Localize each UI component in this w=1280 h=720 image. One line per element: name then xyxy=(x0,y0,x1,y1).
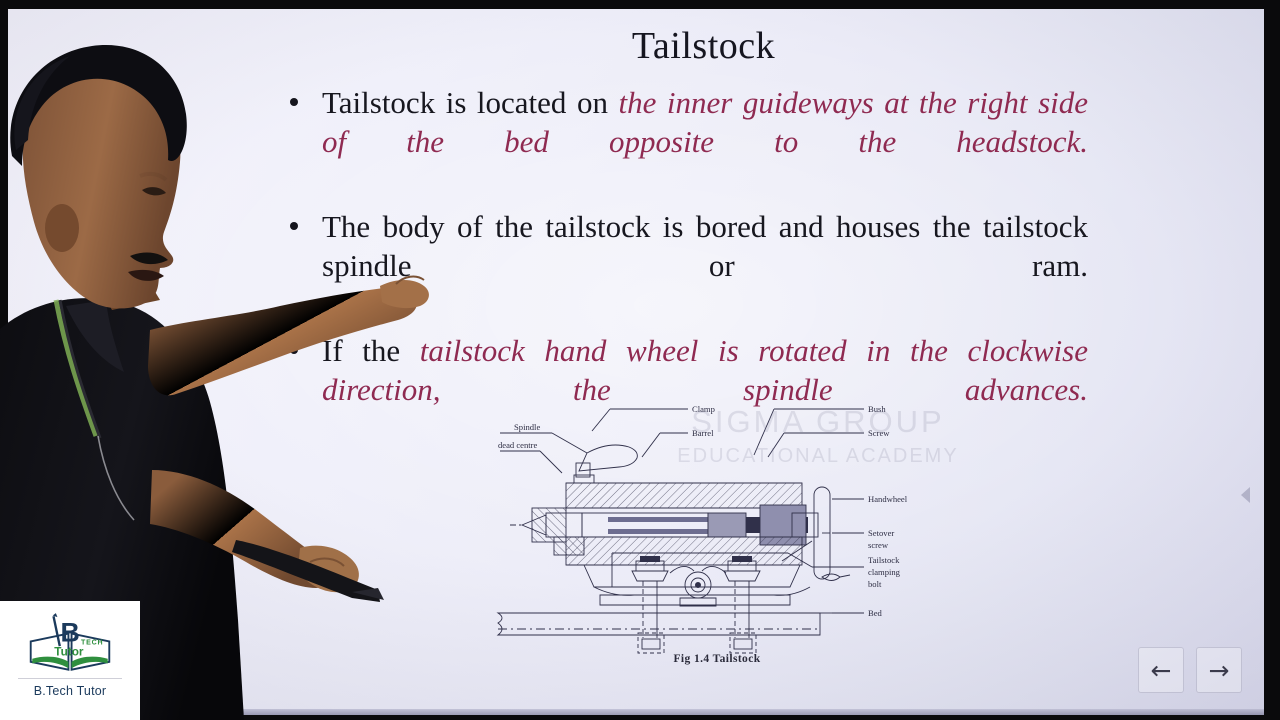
logo-tech-text: TECH xyxy=(81,640,103,647)
figure-label-clampbolt-2: clamping xyxy=(868,567,901,577)
logo-caption: B.Tech Tutor xyxy=(34,684,107,698)
figure-label-spindle: Spindle xyxy=(514,422,540,432)
tailstock-drawing: Spindle dead centre Clamp Barrel Bush Sc… xyxy=(492,395,942,670)
slide-navigation: ← → xyxy=(1138,647,1242,693)
video-frame: Tailstock Tailstock is located on the in… xyxy=(0,0,1280,720)
instructor-ear xyxy=(45,204,79,252)
bullet-text-1: Tailstock is located on the inner guidew… xyxy=(322,85,1088,198)
figure-label-bush: Bush xyxy=(868,404,886,414)
instructor-pointing-hand xyxy=(380,280,429,308)
figure-label-clampbolt-3: bolt xyxy=(868,579,882,589)
figure-label-clamp: Clamp xyxy=(692,404,715,414)
figure-label-setover-1: Setover xyxy=(868,528,894,538)
figure-label-bed: Bed xyxy=(868,608,883,618)
bullet-lead-2: The body of the tailstock is bored and h… xyxy=(322,209,1088,283)
figure-label-setover-2: screw xyxy=(868,540,889,550)
btech-tutor-logo-icon: B TECH Tutor xyxy=(22,610,118,676)
logo-tutor-text: Tutor xyxy=(54,646,84,659)
figure-caption: Fig 1.4 Tailstock xyxy=(492,653,942,665)
figure-label-barrel: Barrel xyxy=(692,428,714,438)
figure-label-clampbolt-1: Tailstock xyxy=(868,555,900,565)
sidebar-reveal-arrow-icon[interactable] xyxy=(1241,487,1250,503)
instructor-pointing-arm xyxy=(148,287,417,395)
bullet-text-2: The body of the tailstock is bored and h… xyxy=(322,209,1088,322)
tailstock-figure: Spindle dead centre Clamp Barrel Bush Sc… xyxy=(492,395,942,695)
previous-slide-button[interactable]: ← xyxy=(1138,647,1184,693)
channel-logo: B TECH Tutor B.Tech Tutor xyxy=(0,601,140,720)
logo-letter-b: B xyxy=(61,617,80,647)
figure-label-handwheel: Handwheel xyxy=(868,494,908,504)
next-slide-button[interactable]: → xyxy=(1196,647,1242,693)
logo-divider xyxy=(18,678,122,679)
figure-label-screw: Screw xyxy=(868,428,890,438)
figure-label-dead-centre: dead centre xyxy=(498,440,538,450)
